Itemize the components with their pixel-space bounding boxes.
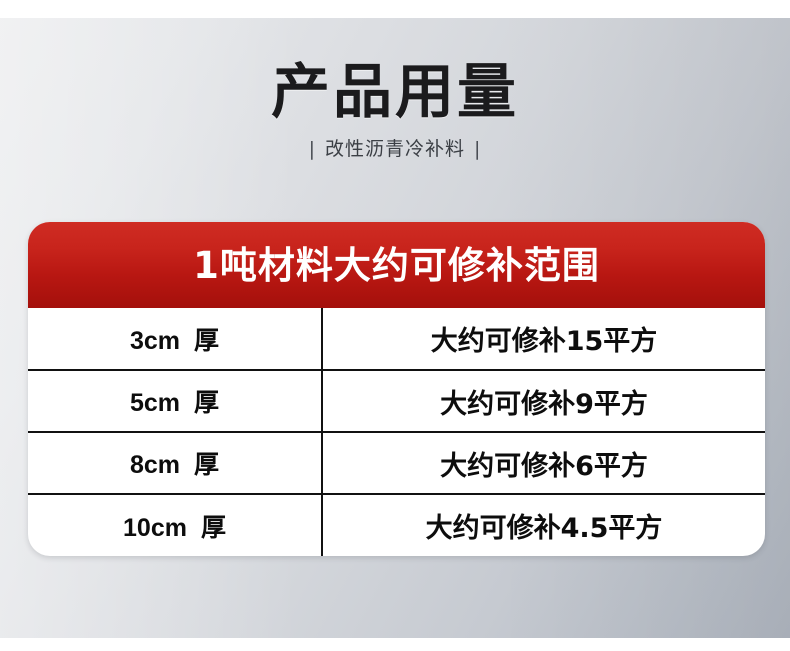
table-cell-thickness: 3cm厚: [28, 308, 322, 370]
table-cell-coverage: 大约可修补6平方: [322, 432, 765, 494]
table-cell-thickness: 10cm厚: [28, 494, 322, 556]
table-cell-thickness: 8cm厚: [28, 432, 322, 494]
thickness-text: 10cm厚: [123, 513, 226, 542]
thickness-value: 5cm: [130, 389, 180, 417]
page-title: 产品用量: [0, 62, 790, 121]
thickness-label: 厚: [180, 388, 219, 417]
table-row: 8cm厚 大约可修补6平方: [28, 432, 765, 494]
subtitle-rule-left-icon: |: [300, 138, 325, 160]
thickness-label: 厚: [180, 326, 219, 355]
table-cell-coverage: 大约可修补9平方: [322, 370, 765, 432]
table-cell-thickness: 5cm厚: [28, 370, 322, 432]
thickness-text: 8cm厚: [130, 450, 219, 479]
coverage-text: 大约可修补4.5平方: [426, 513, 663, 544]
product-usage-infographic: 产品用量 |改性沥青冷补料| 1吨材料大约可修补范围 3cm厚 大约可修补15平…: [0, 0, 790, 651]
thickness-label: 厚: [187, 513, 226, 542]
card-header: 1吨材料大约可修补范围: [28, 222, 765, 308]
thickness-value: 10cm: [123, 514, 187, 542]
thickness-text: 3cm厚: [130, 326, 219, 355]
coverage-text: 大约可修补6平方: [440, 451, 648, 482]
table-row: 3cm厚 大约可修补15平方: [28, 308, 765, 370]
table-row: 5cm厚 大约可修补9平方: [28, 370, 765, 432]
thickness-value: 3cm: [130, 327, 180, 355]
thickness-label: 厚: [180, 450, 219, 479]
thickness-value: 8cm: [130, 451, 180, 479]
table-row: 10cm厚 大约可修补4.5平方: [28, 494, 765, 556]
table-cell-coverage: 大约可修补4.5平方: [322, 494, 765, 556]
subtitle-label: 改性沥青冷补料: [325, 138, 465, 160]
coverage-text: 大约可修补15平方: [431, 326, 658, 357]
subtitle-rule-right-icon: |: [465, 138, 490, 160]
card-header-title: 1吨材料大约可修补范围: [193, 247, 600, 284]
coverage-text: 大约可修补9平方: [440, 389, 648, 420]
table-cell-coverage: 大约可修补15平方: [322, 308, 765, 370]
page-subtitle: |改性沥青冷补料|: [0, 140, 790, 159]
thickness-text: 5cm厚: [130, 388, 219, 417]
heading-block: 产品用量 |改性沥青冷补料|: [0, 62, 790, 159]
usage-table: 3cm厚 大约可修补15平方 5cm厚 大约可修补9平方: [28, 308, 765, 556]
usage-card: 1吨材料大约可修补范围 3cm厚 大约可修补15平方 5cm厚: [28, 222, 765, 556]
